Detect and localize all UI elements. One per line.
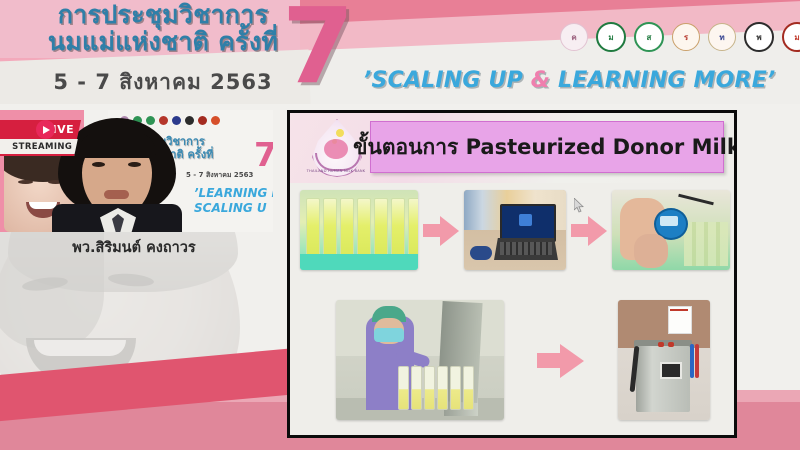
- slide-title-text: ขั้นตอนการ Pasteurized Donor Milk: [353, 131, 737, 164]
- royal-college-logo: ร: [672, 23, 700, 51]
- nursing-council-logo: พ: [744, 22, 774, 52]
- photo-milk-bottles-rack: [300, 190, 418, 270]
- photo-hand-holding-thermometer: [612, 190, 730, 270]
- streaming-label: STREAMING: [12, 142, 72, 152]
- photo-pasteurizer-machine: [618, 300, 710, 420]
- ministry-of-public-health-logo: ส: [634, 22, 664, 52]
- process-arrow-3: [537, 342, 585, 378]
- conference-tagline: ’SCALING UP & LEARNING MORE’: [363, 68, 793, 93]
- process-row-one: [300, 187, 730, 273]
- poster-tagline-line2: SCALING U: [194, 201, 267, 215]
- slide-stage: การประชุมวิชาการ นมแม่แห่งชาติ ครั้งที่ …: [0, 0, 800, 450]
- poster-tagline: ’LEARNING MOR SCALING U: [194, 186, 273, 216]
- poster-edition-number: 7: [254, 138, 273, 171]
- presentation-slide: THAILAND HUMAN MILK BANK ขั้นตอนการ Past…: [287, 110, 737, 438]
- photo-laptop-workstation: [464, 190, 566, 270]
- breastfeeding-foundation-logo: ม: [596, 22, 626, 52]
- tagline-ampersand: &: [531, 68, 550, 93]
- conference-title-line2: นมแม่แห่งชาติ ครั้งที่: [28, 29, 298, 55]
- medical-association-logo: ม: [782, 22, 800, 52]
- logo-caption: THAILAND HUMAN MILK BANK: [302, 169, 370, 173]
- conference-date: 5 - 7 สิงหาคม 2563: [28, 66, 298, 99]
- conference-title-line1: การประชุมวิชาการ: [58, 0, 269, 29]
- photo-nurse-loading-pasteurizer: [336, 300, 504, 420]
- thai-pediatric-logo: ท: [708, 23, 736, 51]
- royal-patronage-logo: ค: [560, 23, 588, 51]
- tagline-suffix: LEARNING MORE’: [550, 68, 775, 93]
- process-arrow-1: [423, 215, 459, 245]
- conference-edition-number: 7: [282, 0, 354, 98]
- sponsor-logo-strip: ค ม ส ร ท พ ม สสส: [560, 22, 800, 52]
- play-icon: [36, 120, 55, 139]
- slide-title-banner: ขั้นตอนการ Pasteurized Donor Milk: [370, 121, 724, 173]
- speaker-name: พว.สิริมนต์ คงถาวร: [0, 236, 268, 259]
- mouse-pointer: [574, 198, 586, 214]
- poster-tagline-line1: ’LEARNING MOR: [194, 186, 273, 200]
- streaming-badge: STREAMING: [0, 139, 78, 156]
- poster-date: 5 - 7 สิงหาคม 2563: [186, 170, 253, 181]
- process-row-two: [336, 297, 710, 423]
- conference-title: การประชุมวิชาการ นมแม่แห่งชาติ ครั้งที่: [28, 2, 298, 56]
- conference-header: การประชุมวิชาการ นมแม่แห่งชาติ ครั้งที่ …: [0, 0, 800, 104]
- live-video-feed[interactable]: การประชุมวิชาการ นมแม่แห่งชาติ ครั้งที่ …: [0, 110, 273, 232]
- tagline-prefix: ’SCALING UP: [363, 68, 531, 93]
- process-arrow-2: [571, 215, 607, 245]
